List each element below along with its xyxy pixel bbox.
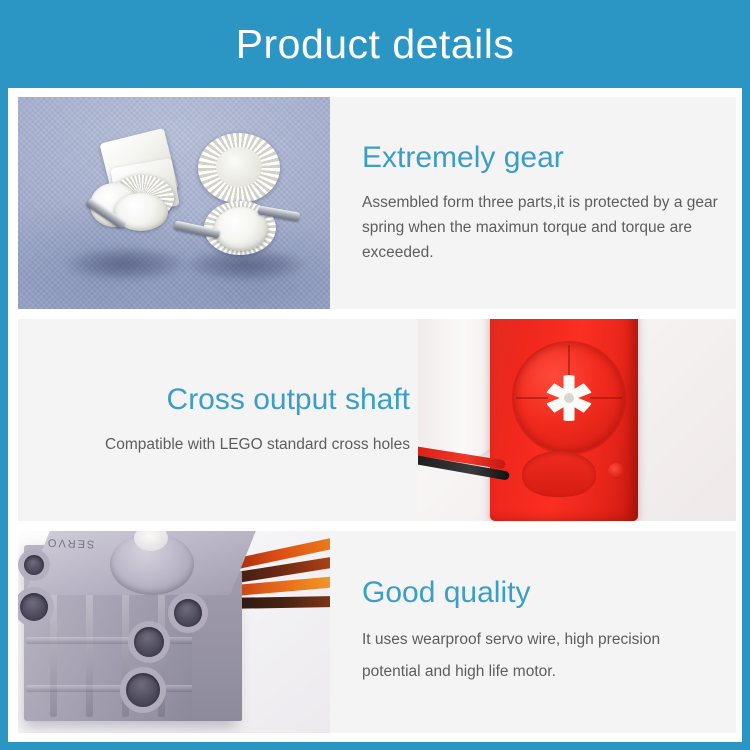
gears-photo bbox=[18, 97, 330, 309]
content-frame: Extremely gear Assembled form three part… bbox=[8, 88, 742, 742]
disc-line-right bbox=[590, 397, 622, 399]
product-details-page: Product details bbox=[0, 0, 750, 750]
technic-hole-mid bbox=[134, 627, 164, 657]
technic-hole-left-top bbox=[24, 555, 44, 575]
body-rib-h2 bbox=[26, 685, 198, 692]
body-rib-1 bbox=[50, 585, 57, 717]
cross-horn-center-hole bbox=[564, 393, 574, 403]
feature-text-good-quality: Good quality It uses wearproof servo wir… bbox=[362, 531, 736, 733]
gear-hub-right bbox=[216, 147, 262, 187]
feature-body: It uses wearproof servo wire, high preci… bbox=[362, 624, 720, 688]
red-servo-photo bbox=[418, 319, 736, 521]
gray-servo-photo: SERVO bbox=[18, 531, 330, 733]
technic-hole-lower bbox=[126, 673, 160, 707]
red-servo-lower-tab bbox=[522, 451, 596, 497]
feature-title: Cross output shaft bbox=[167, 383, 410, 418]
servo-molded-text: SERVO bbox=[46, 536, 95, 550]
feature-row-good-quality: SERVO Good quality It uses wearproof ser… bbox=[18, 531, 736, 733]
feature-title: Good quality bbox=[362, 576, 530, 611]
feature-text-extremely-gear: Extremely gear Assembled form three part… bbox=[362, 97, 736, 309]
gear-shadow-left bbox=[66, 247, 186, 281]
page-title: Product details bbox=[236, 24, 515, 65]
feature-row-cross-output-shaft: Cross output shaft Compatible with LEGO … bbox=[18, 319, 736, 521]
feature-rows: Extremely gear Assembled form three part… bbox=[18, 97, 736, 733]
technic-hole-upper-right bbox=[174, 599, 202, 627]
feature-text-cross-output-shaft: Cross output shaft Compatible with LEGO … bbox=[18, 319, 410, 521]
disc-line-left bbox=[516, 397, 548, 399]
disc-line-top bbox=[568, 345, 570, 379]
feature-title: Extremely gear bbox=[362, 141, 564, 176]
feature-body: Compatible with LEGO standard cross hole… bbox=[105, 432, 410, 457]
body-rib-h1 bbox=[26, 637, 198, 644]
feature-body: Assembled form three parts,it is protect… bbox=[362, 190, 720, 265]
technic-hole-left-upper bbox=[20, 593, 48, 621]
body-rib-2 bbox=[86, 585, 93, 717]
page-header: Product details bbox=[0, 0, 750, 88]
red-servo-screw bbox=[608, 463, 624, 479]
feature-row-extremely-gear: Extremely gear Assembled form three part… bbox=[18, 97, 736, 309]
